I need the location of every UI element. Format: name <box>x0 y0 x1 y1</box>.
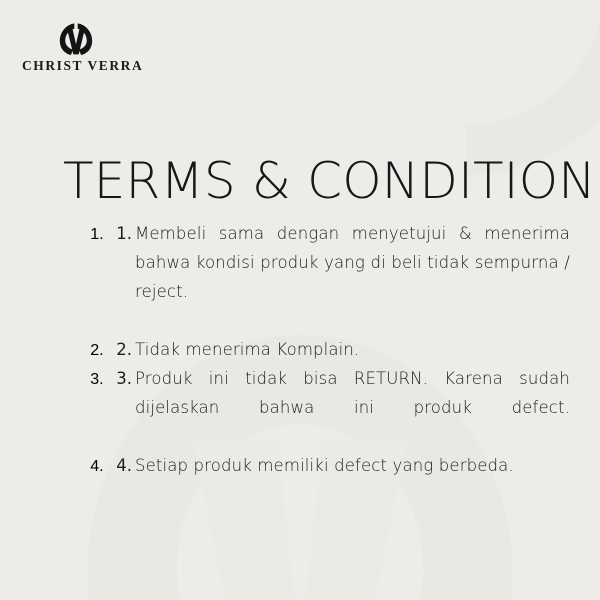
list-item-text: Tidak menerima Komplain. <box>135 335 570 364</box>
list-item-number: 3. <box>108 364 132 393</box>
list-item: 4. Setiap produk memiliki defect yang be… <box>108 451 570 480</box>
list-item-number: 2. <box>108 335 132 364</box>
list-item-text: Membeli sama dengan menyetujui & menerim… <box>135 219 570 335</box>
list-item-number: 4. <box>108 451 132 480</box>
list-item: 2. Tidak menerima Komplain. <box>108 335 570 364</box>
list-item-text: Setiap produk memiliki defect yang berbe… <box>135 451 570 480</box>
page-title: TERMS & CONDITIONS <box>63 152 543 210</box>
brand-wordmark: CHRIST VERRA <box>22 57 143 75</box>
list-item-number: 1. <box>108 219 132 248</box>
list-item: 1. Membeli sama dengan menyetujui & mene… <box>108 219 570 335</box>
terms-and-conditions-page: CHRIST VERRA TERMS & CONDITIONS 1. Membe… <box>0 0 600 600</box>
christ-verra-monogram-icon <box>59 22 93 55</box>
list-item-text: Produk ini tidak bisa RETURN. Karena sud… <box>135 364 570 451</box>
terms-list: 1. Membeli sama dengan menyetujui & mene… <box>68 219 570 480</box>
list-item: 3. Produk ini tidak bisa RETURN. Karena … <box>108 364 570 451</box>
